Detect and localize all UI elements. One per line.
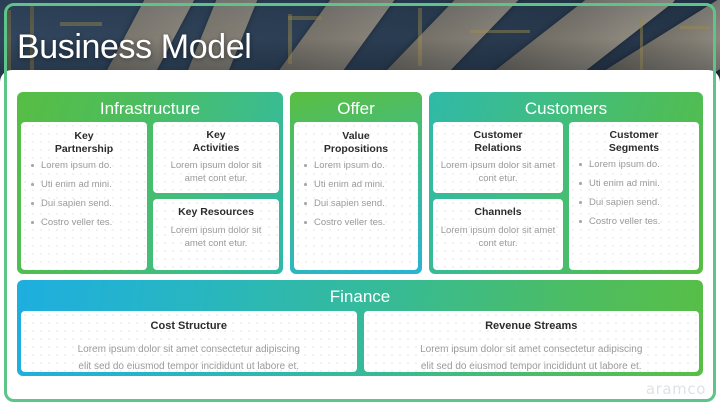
panel-title-finance: Finance	[20, 283, 700, 310]
card-text-line1: Lorem ipsum dolor sit amet consectetur a…	[31, 341, 347, 358]
card-title-line2: Partnership	[27, 143, 141, 156]
card-key-resources[interactable]: Key Resources Lorem ipsum dolor sit amet…	[153, 199, 279, 270]
card-key-partnership[interactable]: Key Partnership Lorem ipsum do. Uti enim…	[21, 122, 147, 270]
card-text-customer-relations: Lorem ipsum dolor sit amet cont etur.	[439, 159, 557, 185]
card-text-line1: Lorem ipsum dolor sit amet consectetur a…	[374, 341, 690, 358]
column-key-activities-resources: Key Activities Lorem ipsum dolor sit ame…	[153, 122, 279, 270]
list-item: Costro veller tes.	[300, 217, 412, 236]
card-title-key-resources: Key Resources	[159, 206, 273, 219]
panel-body-customers: Customer Relations Lorem ipsum dolor sit…	[433, 122, 699, 270]
page-title: Business Model	[17, 28, 251, 67]
list-item: Costro veller tes.	[27, 217, 141, 236]
card-title-line1: Key	[27, 130, 141, 143]
card-title-line1: Customer	[439, 129, 557, 142]
card-title-line1: Value	[300, 130, 412, 143]
list-item: Dui sapien send.	[300, 198, 412, 217]
column-value-propositions: Value Propositions Lorem ipsum do. Uti e…	[294, 122, 418, 270]
list-item: Lorem ipsum do.	[300, 160, 412, 179]
list-item: Dui sapien send.	[27, 198, 141, 217]
panel-body-offer: Value Propositions Lorem ipsum do. Uti e…	[294, 122, 418, 270]
panel-offer[interactable]: Offer Value Propositions Lorem ipsum do.…	[290, 92, 422, 274]
column-key-partnership: Key Partnership Lorem ipsum do. Uti enim…	[21, 122, 147, 270]
panel-customers[interactable]: Customers Customer Relations Lorem ipsum…	[429, 92, 703, 274]
card-title-customer-relations: Customer Relations	[439, 129, 557, 154]
card-title-key-partnership: Key Partnership	[27, 130, 141, 155]
card-title-channels: Channels	[439, 206, 557, 219]
column-revenue-streams: Revenue Streams Lorem ipsum dolor sit am…	[364, 311, 700, 372]
panel-finance[interactable]: Finance Cost Structure Lorem ipsum dolor…	[17, 280, 703, 376]
card-text-line2: elit sed do eiusmod tempor incididunt ut…	[374, 358, 690, 373]
card-title-value-propositions: Value Propositions	[300, 130, 412, 155]
bullet-list-key-partnership: Lorem ipsum do. Uti enim ad mini. Dui sa…	[27, 160, 141, 236]
list-item: Uti enim ad mini.	[300, 179, 412, 198]
card-title-line1: Key	[159, 129, 273, 142]
panel-body-finance: Cost Structure Lorem ipsum dolor sit ame…	[21, 311, 699, 372]
panel-title-customers: Customers	[432, 95, 700, 122]
bullet-list-value-propositions: Lorem ipsum do. Uti enim ad mini. Dui sa…	[300, 160, 412, 236]
list-item: Costro veller tes.	[575, 216, 693, 235]
card-value-propositions[interactable]: Value Propositions Lorem ipsum do. Uti e…	[294, 122, 418, 270]
card-title-line1: Customer	[575, 129, 693, 142]
card-text-key-activities: Lorem ipsum dolor sit amet cont etur.	[159, 159, 273, 185]
column-customer-segments: Customer Segments Lorem ipsum do. Uti en…	[569, 122, 699, 270]
card-text-key-resources: Lorem ipsum dolor sit amet cont etur.	[159, 224, 273, 250]
card-customer-relations[interactable]: Customer Relations Lorem ipsum dolor sit…	[433, 122, 563, 193]
card-title-line2: Propositions	[300, 143, 412, 156]
list-item: Lorem ipsum do.	[575, 159, 693, 178]
panel-title-infrastructure: Infrastructure	[20, 95, 280, 122]
bullet-list-customer-segments: Lorem ipsum do. Uti enim ad mini. Dui sa…	[575, 159, 693, 235]
card-customer-segments[interactable]: Customer Segments Lorem ipsum do. Uti en…	[569, 122, 699, 270]
column-cost-structure: Cost Structure Lorem ipsum dolor sit ame…	[21, 311, 357, 372]
panel-title-offer: Offer	[293, 95, 419, 122]
card-revenue-streams[interactable]: Revenue Streams Lorem ipsum dolor sit am…	[364, 311, 700, 372]
card-key-activities[interactable]: Key Activities Lorem ipsum dolor sit ame…	[153, 122, 279, 193]
panel-infrastructure[interactable]: Infrastructure Key Partnership Lorem ips…	[17, 92, 283, 274]
aramco-logo: aramco	[646, 380, 706, 398]
card-text-line2: elit sed do eiusmod tempor incididunt ut…	[31, 358, 347, 373]
card-cost-structure[interactable]: Cost Structure Lorem ipsum dolor sit ame…	[21, 311, 357, 372]
list-item: Uti enim ad mini.	[27, 179, 141, 198]
card-text-revenue-streams: Lorem ipsum dolor sit amet consectetur a…	[374, 341, 690, 373]
list-item: Uti enim ad mini.	[575, 178, 693, 197]
card-title-line2: Segments	[575, 142, 693, 155]
card-text-channels: Lorem ipsum dolor sit amet cont etur.	[439, 224, 557, 250]
list-item: Lorem ipsum do.	[27, 160, 141, 179]
slide-canvas: Business Model Infrastructure Key Partne…	[0, 0, 720, 405]
card-title-line2: Activities	[159, 142, 273, 155]
card-text-cost-structure: Lorem ipsum dolor sit amet consectetur a…	[31, 341, 347, 373]
card-title-cost-structure: Cost Structure	[31, 320, 347, 333]
card-title-customer-segments: Customer Segments	[575, 129, 693, 154]
card-title-line2: Relations	[439, 142, 557, 155]
card-title-revenue-streams: Revenue Streams	[374, 320, 690, 333]
card-channels[interactable]: Channels Lorem ipsum dolor sit amet cont…	[433, 199, 563, 270]
column-customer-relations-channels: Customer Relations Lorem ipsum dolor sit…	[433, 122, 563, 270]
card-title-key-activities: Key Activities	[159, 129, 273, 154]
list-item: Dui sapien send.	[575, 197, 693, 216]
panel-body-infrastructure: Key Partnership Lorem ipsum do. Uti enim…	[21, 122, 279, 270]
